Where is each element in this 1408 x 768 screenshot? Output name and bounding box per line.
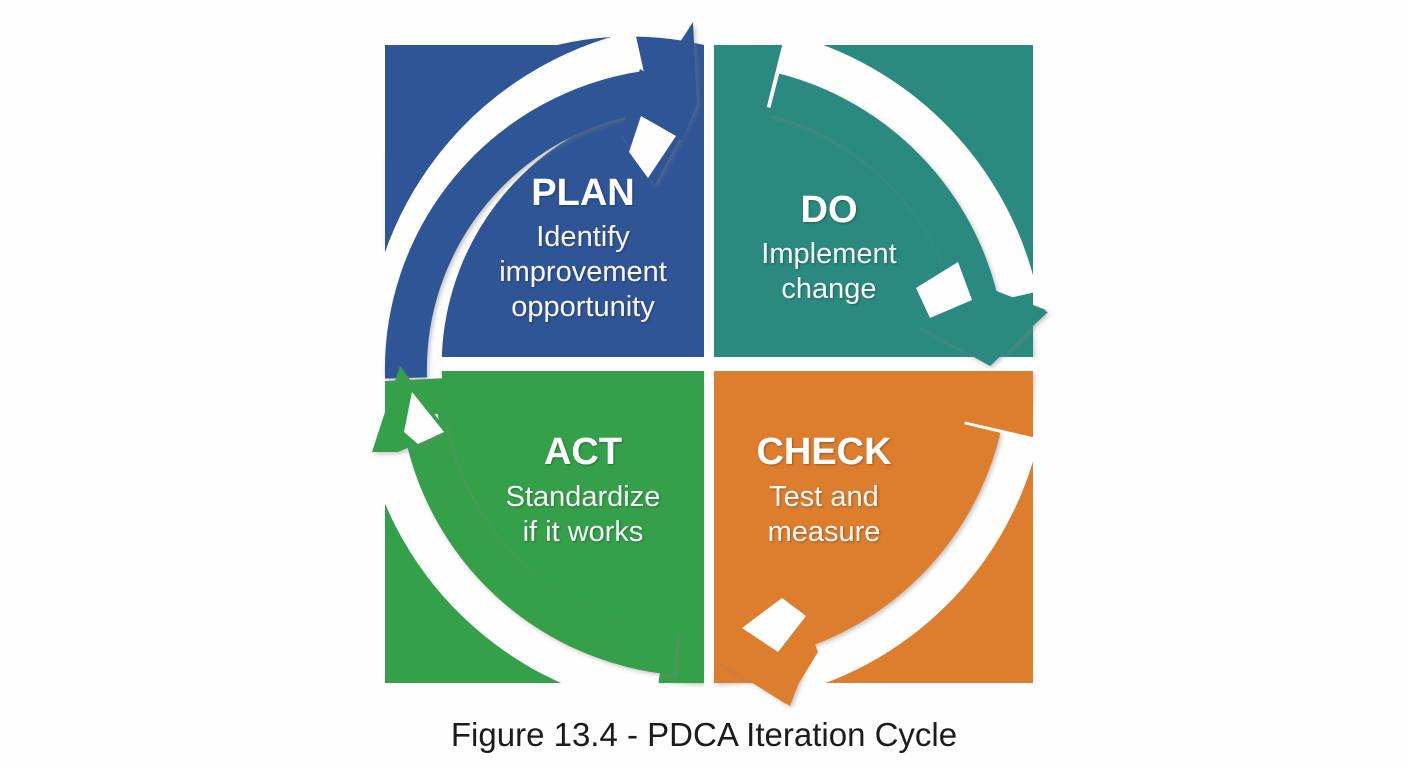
- plan-subtitle-line-2: improvement: [499, 256, 667, 288]
- plan-subtitle-line-1: Identify: [536, 221, 630, 253]
- check-subtitle-line-1: Test and: [769, 481, 879, 513]
- check-subtitle-line-2: measure: [768, 516, 881, 548]
- plan-title: PLAN: [531, 172, 634, 214]
- do-title: DO: [801, 189, 858, 231]
- act-title: ACT: [544, 431, 622, 473]
- plan-subtitle-line-3: opportunity: [511, 291, 655, 323]
- figure-caption: Figure 13.4 - PDCA Iteration Cycle: [451, 716, 957, 753]
- do-subtitle-line-2: change: [781, 273, 876, 305]
- act-subtitle-line-1: Standardize: [506, 481, 661, 513]
- act-subtitle-line-2: if it works: [523, 516, 644, 548]
- do-subtitle-line-1: Implement: [761, 238, 896, 270]
- pdca-cycle-diagram: PLAN Identify improvement opportunity DO…: [0, 0, 1408, 768]
- quadrant-check-label: CHECK Test and measure: [756, 431, 892, 548]
- pdca-figure: PLAN Identify improvement opportunity DO…: [0, 0, 1408, 768]
- check-title: CHECK: [756, 431, 892, 473]
